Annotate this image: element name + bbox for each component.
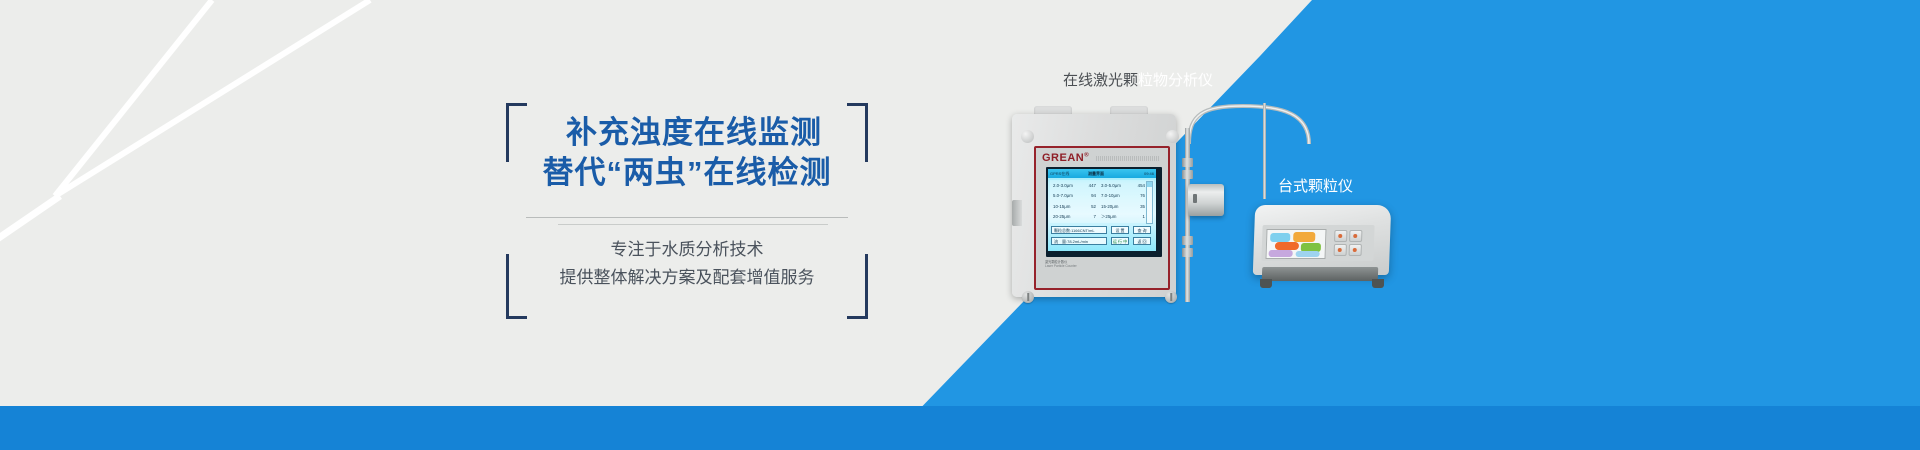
- bench-key-3[interactable]: [1334, 244, 1347, 256]
- bench-screen-tile-5: [1269, 250, 1293, 257]
- table-row: 20-25μm 7 ＞25μm 1: [1050, 212, 1154, 223]
- bench-sample-tray: [1262, 267, 1378, 281]
- sensor-fitting-lower-a: [1182, 236, 1193, 245]
- lcd-title-right: 09:46: [1144, 169, 1154, 178]
- brand-logo-text: GREAN: [1042, 152, 1084, 164]
- product-label-analyzer-light: 粒物分析仪: [1138, 72, 1213, 89]
- cell-range-a: 10-15μm: [1053, 204, 1081, 209]
- bench-screen-tile-6: [1296, 251, 1320, 257]
- bench-screen-tile-3: [1275, 242, 1299, 250]
- product-label-analyzer-dark: 在线激光颗: [1063, 72, 1138, 89]
- headline-text-block: 补充浊度在线监测 替代“两虫”在线检测 专注于水质分析技术 提供整体解决方案及配…: [506, 103, 868, 319]
- analyzer-screw-bottom-right: [1165, 291, 1177, 303]
- product-label-bench-counter: 台式颗粒仪: [1278, 178, 1353, 196]
- lcd-particle-table: 2.0-3.0μm 447 3.0-5.0μm 454 5.0-7.0μm 94…: [1050, 180, 1154, 223]
- bench-screen-tile-2: [1293, 232, 1315, 242]
- cell-range-b: ＞25μm: [1101, 214, 1129, 220]
- bench-foot-right: [1372, 279, 1384, 288]
- cell-count-a: 7: [1081, 214, 1096, 219]
- bench-touchscreen[interactable]: [1265, 229, 1326, 259]
- background-bottom-band: [0, 406, 1920, 450]
- bench-foot-left: [1260, 279, 1272, 288]
- analyzer-knob-left: [1021, 130, 1034, 143]
- cell-count-a: 94: [1081, 193, 1096, 198]
- subtitle-line-1: 专注于水质分析技术: [506, 237, 868, 263]
- sampling-tube: [1183, 104, 1319, 144]
- cell-count-b: 1: [1129, 214, 1145, 219]
- headline-line-2: 替代“两虫”在线检测: [506, 153, 868, 193]
- lcd-field-flow-rate: 流 量:78.2mL/min: [1051, 237, 1107, 245]
- online-laser-particle-analyzer: GREAN® GPRS在线 测量界面 09:46 2.0-3.0μm 447: [1006, 104, 1182, 307]
- bench-antenna-mast: [1263, 103, 1266, 199]
- analyzer-front-panel: GREAN® GPRS在线 测量界面 09:46 2.0-3.0μm 447: [1034, 146, 1170, 290]
- subtitle-line-2: 提供整体解决方案及配套增值服务: [506, 265, 868, 291]
- sensor-column: [1178, 128, 1198, 302]
- cell-range-b: 7.0-10μm: [1101, 193, 1129, 198]
- lcd-title-left: GPRS在线: [1050, 169, 1069, 178]
- lcd-status-running: 运 行 中: [1111, 237, 1129, 245]
- panel-ribbed-strip: [1096, 156, 1160, 161]
- brand-registered-mark: ®: [1084, 152, 1089, 158]
- table-row: 5.0-7.0μm 94 7.0-10μm 76: [1050, 191, 1154, 202]
- promo-banner: 补充浊度在线监测 替代“两虫”在线检测 专注于水质分析技术 提供整体解决方案及配…: [0, 0, 1920, 450]
- analyzer-screw-bottom-left: [1022, 291, 1034, 303]
- bench-keypad: [1334, 230, 1365, 256]
- footnote-line-2: Laser Particle Counter: [1045, 264, 1125, 268]
- cell-range-a: 5.0-7.0μm: [1053, 193, 1081, 198]
- sensor-fitting-upper-b: [1182, 170, 1193, 179]
- lcd-field-total-count: 颗粒总数:1166CNT/mL: [1051, 226, 1107, 234]
- headline-line-1: 补充浊度在线监测: [506, 113, 868, 153]
- table-row: 10-15μm 52 15-20μm 35: [1050, 201, 1154, 212]
- sensor-cylinder: [1188, 184, 1224, 216]
- cell-range-b: 3.0-5.0μm: [1101, 183, 1129, 188]
- analyzer-panel-footnote: 激光颗粒计数仪 Laser Particle Counter: [1045, 260, 1125, 269]
- lcd-scrollbar[interactable]: [1146, 181, 1153, 224]
- cell-range-a: 2.0-3.0μm: [1053, 183, 1081, 188]
- table-row: 2.0-3.0μm 447 3.0-5.0μm 454: [1050, 180, 1154, 191]
- headline: 补充浊度在线监测 替代“两虫”在线检测: [506, 113, 868, 193]
- cell-count-b: 35: [1129, 204, 1145, 209]
- cell-count-a: 52: [1081, 204, 1096, 209]
- bench-key-2[interactable]: [1349, 230, 1362, 242]
- bench-key-4[interactable]: [1349, 244, 1362, 256]
- lcd-button-settings[interactable]: 设 置: [1111, 226, 1129, 234]
- cell-range-a: 20-25μm: [1053, 214, 1081, 219]
- product-label-online-analyzer: 在线激光颗粒物分析仪: [1063, 72, 1213, 90]
- benchtop-particle-counter: [1248, 195, 1400, 300]
- analyzer-lcd-bezel: GPRS在线 测量界面 09:46 2.0-3.0μm 447 3.0-5.0μ…: [1046, 167, 1162, 257]
- brand-logo-grean: GREAN®: [1042, 152, 1089, 164]
- bench-key-1[interactable]: [1334, 230, 1347, 242]
- cell-count-b: 454: [1129, 183, 1145, 188]
- lcd-title-center: 测量界面: [1088, 169, 1104, 178]
- sensor-fitting-lower-b: [1182, 248, 1193, 257]
- lcd-button-query[interactable]: 查 询: [1133, 226, 1151, 234]
- analyzer-enclosure: GREAN® GPRS在线 测量界面 09:46 2.0-3.0μm 447: [1012, 114, 1176, 297]
- analyzer-cable-gland: [1012, 200, 1022, 226]
- divider-rules: [506, 217, 868, 229]
- divider-rule-lower: [558, 224, 828, 225]
- lcd-title-bar: GPRS在线 测量界面 09:46: [1048, 169, 1156, 178]
- sensor-fitting-upper-a: [1182, 158, 1193, 167]
- cell-range-b: 15-20μm: [1101, 204, 1129, 209]
- bench-screen-tile-1: [1270, 233, 1290, 242]
- cell-count-b: 76: [1129, 193, 1145, 198]
- analyzer-lcd-screen[interactable]: GPRS在线 测量界面 09:46 2.0-3.0μm 447 3.0-5.0μ…: [1048, 169, 1156, 251]
- divider-rule-upper: [526, 217, 848, 218]
- lcd-button-back[interactable]: 返 回: [1133, 237, 1151, 245]
- cell-count-a: 447: [1081, 183, 1096, 188]
